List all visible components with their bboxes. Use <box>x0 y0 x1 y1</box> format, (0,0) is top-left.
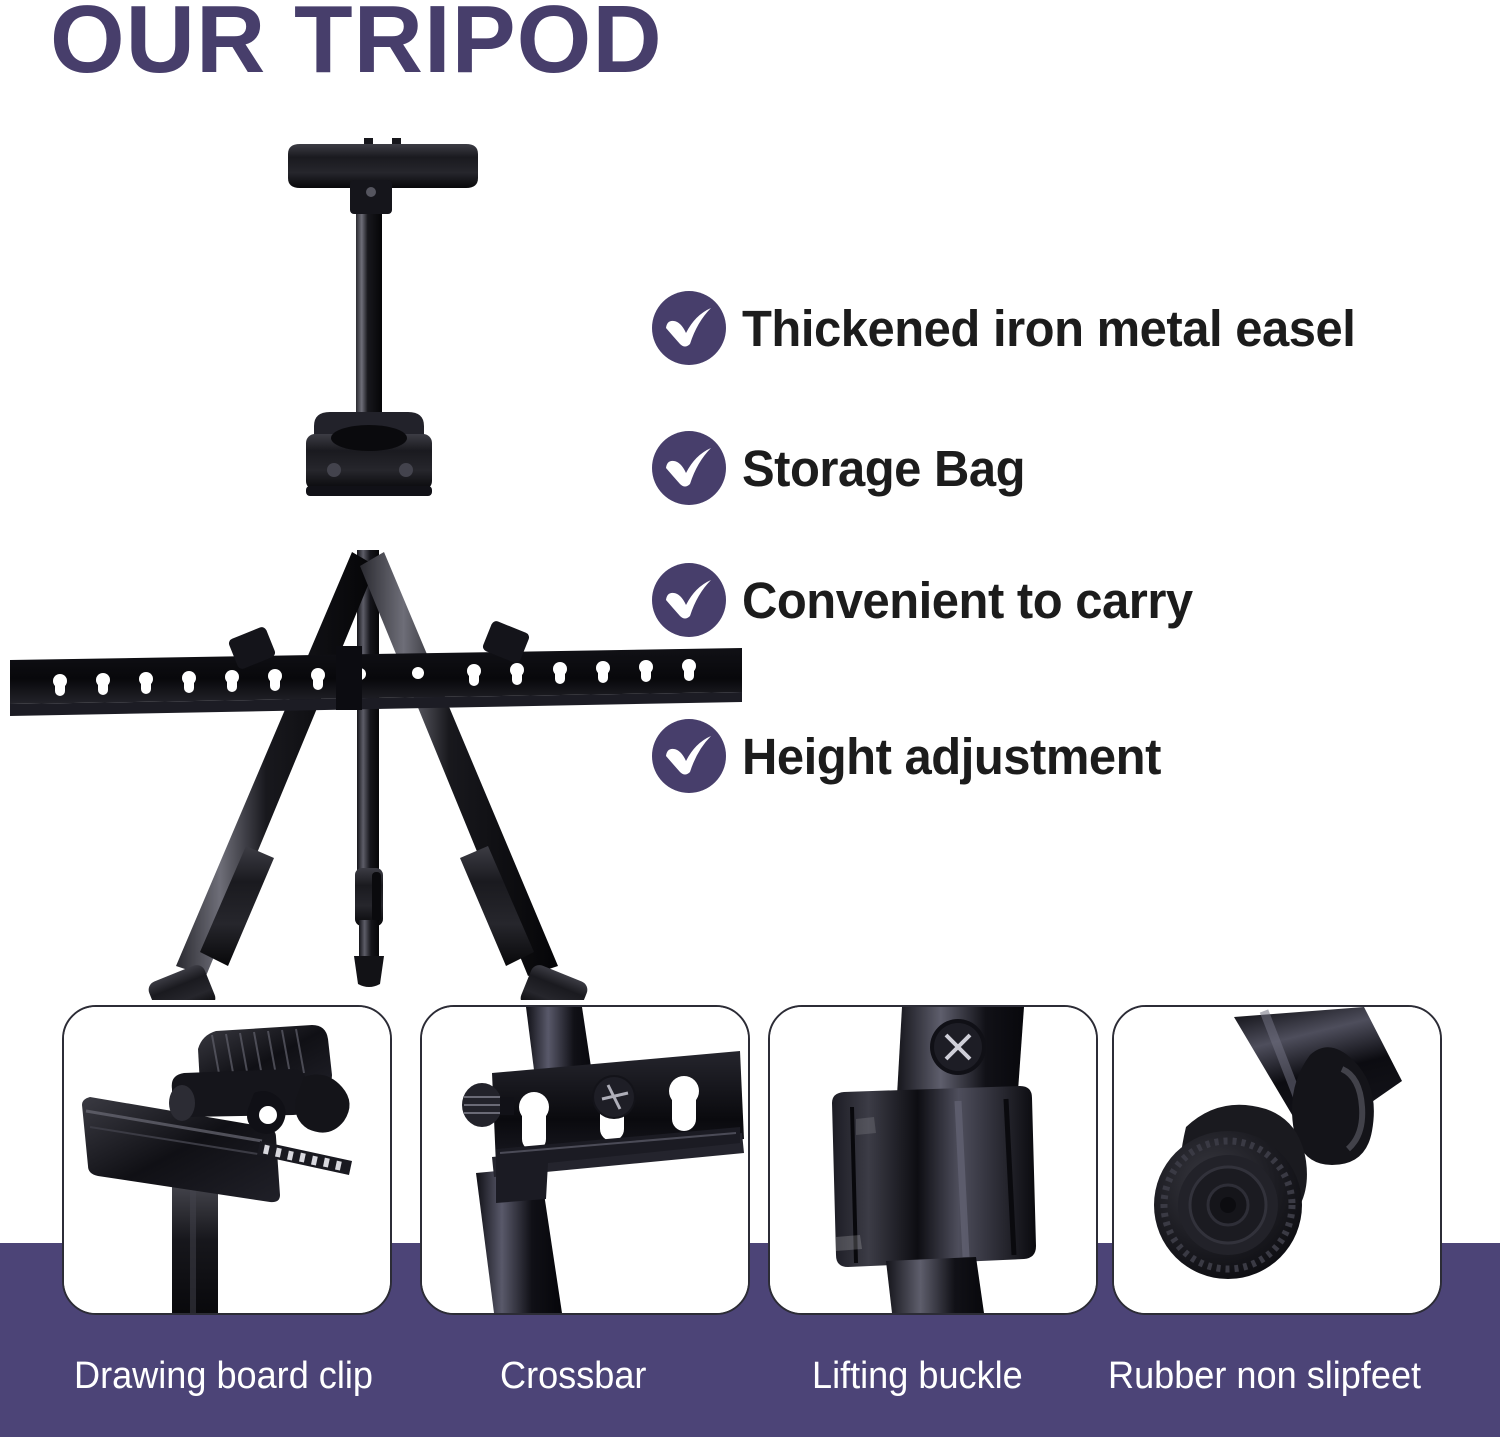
crossbar-keyhole-slot <box>519 1092 549 1151</box>
feature-item-thickened-iron-metal-easel: Thickened iron metal easel <box>652 288 1381 368</box>
easel-left-leg <box>146 552 376 1000</box>
feature-item-convenient-to-carry: Convenient to carry <box>652 560 1211 640</box>
crossbar-pin-hole <box>412 667 424 679</box>
page-title: OUR TRIPOD <box>50 0 663 88</box>
detail-card-lifting-buckle <box>768 1005 1098 1315</box>
easel-center-mast <box>356 180 382 430</box>
check-circle-icon <box>652 719 726 793</box>
easel-right-leg <box>360 552 590 1000</box>
detail-card-captions: Drawing board clip Crossbar Lifting buck… <box>0 1355 1500 1415</box>
feature-label: Storage Bag <box>742 439 1025 498</box>
detail-card-rubber-non-slip-feet <box>1112 1005 1442 1315</box>
caption-drawing-board-clip: Drawing board clip <box>74 1355 373 1398</box>
infographic-page: OUR TRIPOD <box>0 0 1500 1437</box>
detail-card-strip <box>0 1005 1500 1317</box>
caption-crossbar: Crossbar <box>500 1355 646 1398</box>
feature-label: Convenient to carry <box>742 571 1193 630</box>
check-circle-icon <box>652 431 726 505</box>
detail-card-drawing-board-clip <box>62 1005 392 1315</box>
detail-card-crossbar <box>420 1005 750 1315</box>
easel-hub-joint <box>306 412 432 496</box>
caption-rubber-non-slip-feet: Rubber non slipfeet <box>1108 1355 1421 1398</box>
check-circle-icon <box>652 291 726 365</box>
feature-item-storage-bag: Storage Bag <box>652 428 1037 508</box>
feature-label: Height adjustment <box>742 727 1161 786</box>
check-circle-icon <box>652 563 726 637</box>
caption-lifting-buckle: Lifting buckle <box>812 1355 1023 1398</box>
crossbar-keyhole-slot <box>669 1076 699 1131</box>
easel-clip-head <box>288 138 478 214</box>
feature-label: Thickened iron metal easel <box>742 299 1355 358</box>
feature-item-height-adjustment: Height adjustment <box>652 716 1178 796</box>
easel-rear-leg <box>354 550 384 987</box>
